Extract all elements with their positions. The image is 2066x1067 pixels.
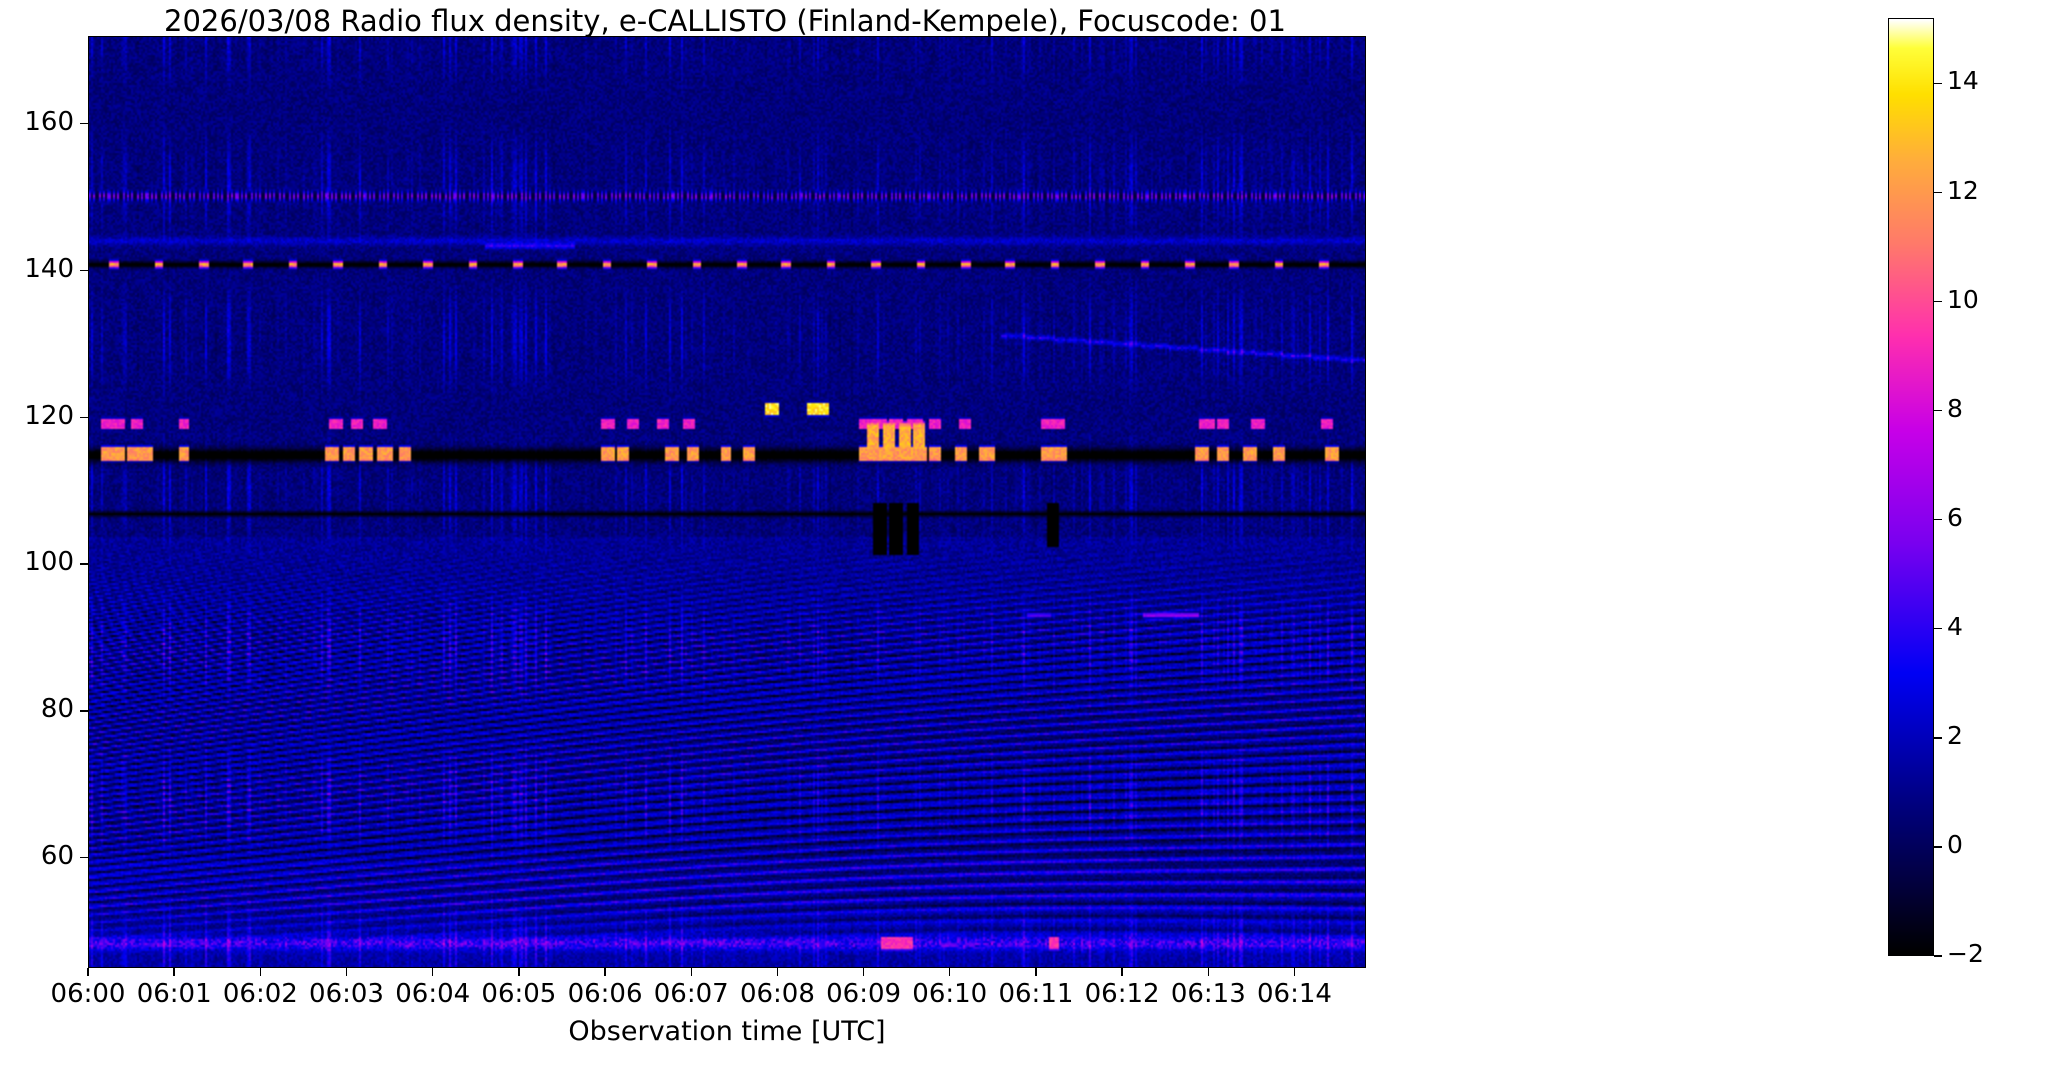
x-tick-mark bbox=[604, 968, 605, 976]
colorbar-tick-label: −2 bbox=[1947, 939, 1984, 968]
colorbar-tick-mark bbox=[1934, 955, 1942, 956]
y-tick-label: 60 bbox=[41, 841, 74, 871]
colorbar-tick-mark bbox=[1934, 410, 1942, 411]
y-tick-mark bbox=[80, 270, 88, 271]
y-tick-label: 100 bbox=[24, 547, 74, 577]
colorbar-tick-label: 14 bbox=[1947, 66, 1979, 95]
x-tick-mark bbox=[863, 968, 864, 976]
y-tick-label: 80 bbox=[41, 694, 74, 724]
x-tick-mark bbox=[691, 968, 692, 976]
x-tick-mark bbox=[1294, 968, 1295, 976]
colorbar-tick-mark bbox=[1934, 301, 1942, 302]
x-tick-mark bbox=[346, 968, 347, 976]
x-tick-mark bbox=[1121, 968, 1122, 976]
y-tick-mark bbox=[80, 417, 88, 418]
x-tick-mark bbox=[1035, 968, 1036, 976]
y-tick-mark bbox=[80, 123, 88, 124]
x-tick-mark bbox=[777, 968, 778, 976]
x-tick-mark bbox=[1208, 968, 1209, 976]
spectrogram-plot-area[interactable] bbox=[88, 36, 1366, 968]
y-tick-mark bbox=[80, 563, 88, 564]
y-tick-mark bbox=[80, 710, 88, 711]
y-tick-label: 140 bbox=[24, 254, 74, 284]
colorbar-tick-label: 8 bbox=[1947, 394, 1963, 423]
colorbar[interactable] bbox=[1888, 18, 1934, 956]
colorbar-tick-mark bbox=[1934, 846, 1942, 847]
y-tick-label: 160 bbox=[24, 107, 74, 137]
x-tick-mark bbox=[87, 968, 88, 976]
colorbar-tick-mark bbox=[1934, 737, 1942, 738]
x-tick-mark bbox=[518, 968, 519, 976]
page-title: 2026/03/08 Radio flux density, e-CALLIST… bbox=[0, 4, 1450, 38]
x-tick-mark bbox=[949, 968, 950, 976]
x-axis-label: Observation time [UTC] bbox=[88, 1016, 1366, 1047]
x-tick-mark bbox=[432, 968, 433, 976]
x-tick-mark bbox=[173, 968, 174, 976]
colorbar-tick-mark bbox=[1934, 628, 1942, 629]
colorbar-tick-label: 10 bbox=[1947, 285, 1979, 314]
colorbar-tick-label: 6 bbox=[1947, 503, 1963, 532]
colorbar-tick-label: 12 bbox=[1947, 176, 1979, 205]
colorbar-tick-label: 4 bbox=[1947, 612, 1963, 641]
colorbar-tick-mark bbox=[1934, 192, 1942, 193]
colorbar-gradient bbox=[1889, 19, 1933, 955]
x-tick-label: 06:14 bbox=[1234, 979, 1354, 1009]
colorbar-tick-mark bbox=[1934, 83, 1942, 84]
spectrogram-figure: 2026/03/08 Radio flux density, e-CALLIST… bbox=[0, 0, 2066, 1067]
colorbar-tick-label: 2 bbox=[1947, 721, 1963, 750]
x-tick-mark bbox=[260, 968, 261, 976]
y-tick-mark bbox=[80, 857, 88, 858]
colorbar-tick-mark bbox=[1934, 519, 1942, 520]
spectrogram-canvas bbox=[89, 37, 1366, 968]
colorbar-tick-label: 0 bbox=[1947, 830, 1963, 859]
y-tick-label: 120 bbox=[24, 401, 74, 431]
